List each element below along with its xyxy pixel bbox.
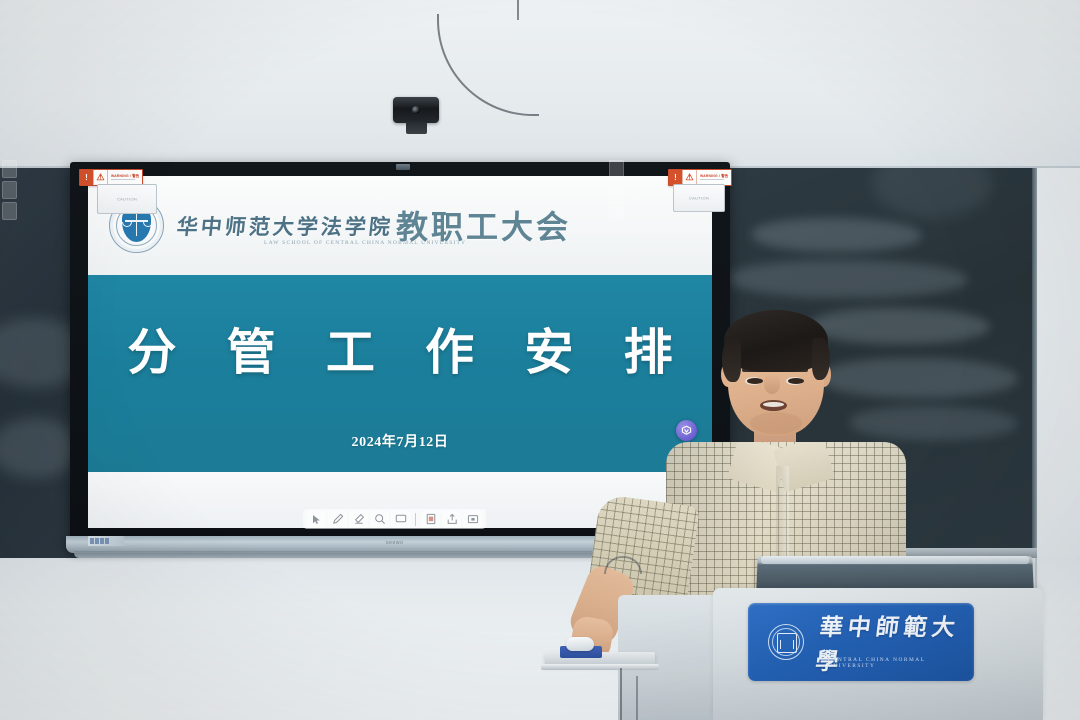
warning-text-right: WARNING / 警告 <box>700 175 728 178</box>
nose <box>764 374 780 394</box>
warning-exclaim-icon: ! <box>80 170 93 185</box>
side-key-left-2[interactable] <box>2 181 17 199</box>
info-plate-right: CAUTION <box>673 184 725 212</box>
share-tool-icon[interactable] <box>442 511 461 528</box>
podium-monitor-lip <box>761 556 1029 564</box>
annotate-tool-icon[interactable] <box>421 511 440 528</box>
blackboard-left <box>0 168 78 558</box>
warning-exclaim-icon-right: ! <box>669 170 682 185</box>
presentation-slide[interactable]: 华中师范大学法学院 LAW SCHOOL OF CENTRAL CHINA NO… <box>88 176 712 528</box>
side-key-left-3[interactable] <box>2 202 17 220</box>
slide-main-title: 分 管 工 作 安 排 <box>88 313 712 384</box>
side-key-right-3[interactable] <box>609 202 624 220</box>
slide-org-name-cn: 华中师范大学法学院 <box>175 211 394 241</box>
panel-brand-label: seewo <box>386 540 403 546</box>
podium-university-name-en: CENTRAL CHINA NORMAL UNIVERSITY <box>828 657 974 669</box>
panel-status-bar <box>396 164 410 170</box>
warning-text-left: WARNING / 警告 <box>111 175 139 178</box>
toolbar-separator <box>415 513 416 526</box>
podium-tray-rail <box>541 664 659 670</box>
camera-icon <box>393 97 439 137</box>
info-plate-right-text: CAUTION <box>689 196 709 201</box>
panel-side-keys-left[interactable] <box>2 160 17 220</box>
eraser-tool-icon[interactable] <box>349 511 368 528</box>
panel-side-keys-right[interactable] <box>609 160 624 220</box>
slide-date: 2024年7月12日 <box>88 431 712 451</box>
cursor-tool-icon[interactable] <box>307 511 326 528</box>
university-emblem-icon <box>768 624 804 660</box>
capture-tool-icon[interactable] <box>463 511 482 528</box>
info-plate-left: CAUTION <box>97 184 157 214</box>
computer-mouse[interactable] <box>566 637 594 651</box>
warning-triangle-icon-right: ⚠ <box>682 170 696 185</box>
podium-sign: 華中師範大學 CENTRAL CHINA NORMAL UNIVERSITY <box>748 603 974 681</box>
slide-banner: 分 管 工 作 安 排 2024年7月12日 <box>88 275 712 472</box>
side-key-right-2[interactable] <box>609 181 624 199</box>
podium-cable-2 <box>636 676 638 720</box>
magnifier-tool-icon[interactable] <box>370 511 389 528</box>
screen-tool-icon[interactable] <box>391 511 410 528</box>
blackboard-right-edge <box>1032 168 1037 558</box>
camera-cable-upper <box>517 0 519 20</box>
podium-cable-1 <box>620 668 622 720</box>
panel-port-strip[interactable] <box>88 536 124 546</box>
wall-upper <box>0 0 1080 168</box>
slide-toolbar[interactable] <box>303 509 486 529</box>
pen-tool-icon[interactable] <box>328 511 347 528</box>
slide-meeting-title: 教职工大会 <box>396 202 571 248</box>
side-key-right-1[interactable] <box>609 160 624 178</box>
classroom-scene: 华中师范大学法学院 LAW SCHOOL OF CENTRAL CHINA NO… <box>0 0 1080 720</box>
side-key-left-1[interactable] <box>2 160 17 178</box>
info-plate-left-text: CAUTION <box>117 197 137 202</box>
warning-triangle-icon: ⚠ <box>93 170 107 185</box>
